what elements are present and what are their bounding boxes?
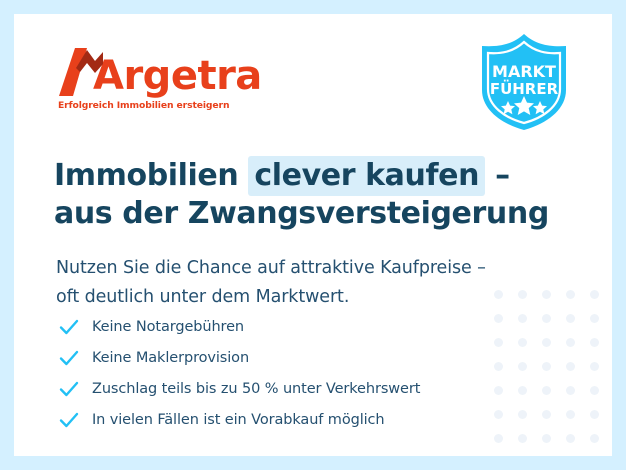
dot (590, 338, 599, 347)
dot (494, 290, 503, 299)
argetra-roof-mark-icon (57, 46, 105, 98)
dot (518, 338, 527, 347)
list-item: Zuschlag teils bis zu 50 % unter Verkehr… (58, 373, 420, 404)
dot (518, 434, 527, 443)
dot (542, 434, 551, 443)
subheading-line1: Nutzen Sie die Chance auf attraktive Kau… (56, 258, 486, 278)
subheading-line2: oft deutlich unter dem Marktwert. (56, 287, 349, 307)
promo-banner: Argetra Erfolgreich Immobilien ersteiger… (0, 0, 626, 470)
dot (566, 434, 575, 443)
dot (542, 410, 551, 419)
dot (566, 290, 575, 299)
dot (518, 314, 527, 323)
dot (566, 362, 575, 371)
subheading: Nutzen Sie die Chance auf attraktive Kau… (56, 254, 486, 312)
banner-card: Argetra Erfolgreich Immobilien ersteiger… (14, 14, 612, 456)
dot (590, 434, 599, 443)
headline-line1: Immobilien clever kaufen – (54, 156, 510, 196)
dot (590, 290, 599, 299)
headline-line1-after: – (485, 158, 510, 193)
dot (542, 314, 551, 323)
badge-line1-text: MARKT (492, 62, 556, 81)
dot (494, 410, 503, 419)
dot (566, 410, 575, 419)
logo-tagline: Erfolgreich Immobilien ersteigern (58, 100, 262, 111)
dot (590, 410, 599, 419)
badge-line2-text: FÜHRER (490, 79, 559, 98)
benefit-label: Keine Maklerprovision (92, 350, 249, 366)
dot (494, 362, 503, 371)
argetra-logo[interactable]: Argetra Erfolgreich Immobilien ersteiger… (57, 46, 262, 111)
dot (542, 386, 551, 395)
check-icon (58, 347, 80, 369)
headline-highlight: clever kaufen (248, 156, 485, 196)
dot-grid-decoration (486, 282, 606, 450)
dot (590, 314, 599, 323)
list-item: Keine Notargebühren (58, 311, 420, 342)
dot (494, 434, 503, 443)
dot (590, 386, 599, 395)
dot (566, 314, 575, 323)
dot (518, 410, 527, 419)
headline-line1-before: Immobilien (54, 158, 248, 193)
benefit-label: Zuschlag teils bis zu 50 % unter Verkehr… (92, 381, 420, 397)
dot (542, 290, 551, 299)
page-title: Immobilien clever kaufen – aus der Zwang… (54, 157, 549, 233)
dot (518, 386, 527, 395)
dot (542, 362, 551, 371)
dot (494, 314, 503, 323)
list-item: In vielen Fällen ist ein Vorabkauf mögli… (58, 404, 420, 435)
market-leader-badge: MARKT FÜHRER (478, 32, 570, 132)
benefit-label: Keine Notargebühren (92, 319, 244, 335)
logo-wordmark: Argetra (93, 56, 262, 98)
headline-line2: aus der Zwangsversteigerung (54, 196, 549, 231)
list-item: Keine Maklerprovision (58, 342, 420, 373)
benefit-list: Keine Notargebühren Keine Maklerprovisio… (58, 311, 420, 435)
logo-row: Argetra (57, 46, 262, 98)
dot (566, 338, 575, 347)
check-icon (58, 409, 80, 431)
dot (494, 386, 503, 395)
dot (566, 386, 575, 395)
check-icon (58, 378, 80, 400)
check-icon (58, 316, 80, 338)
dot (590, 362, 599, 371)
dot (518, 290, 527, 299)
dot (494, 338, 503, 347)
dot (542, 338, 551, 347)
dot (518, 362, 527, 371)
benefit-label: In vielen Fällen ist ein Vorabkauf mögli… (92, 412, 385, 428)
